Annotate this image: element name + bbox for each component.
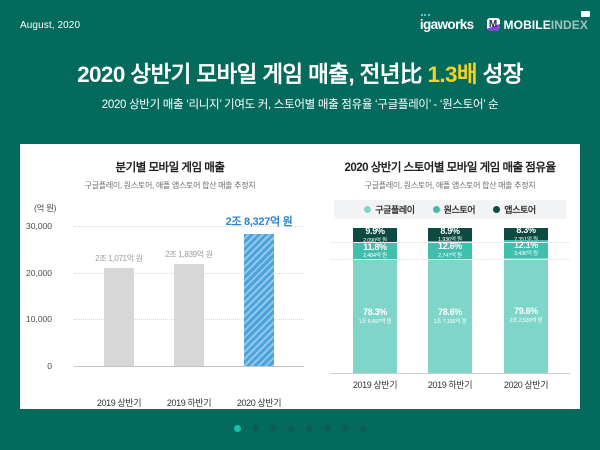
legend-label: 구글플레이: [375, 203, 414, 216]
legend-swatch-icon: [433, 206, 440, 213]
title-block: 2020 상반기 모바일 게임 매출, 전년比 1.3배 성장 2020 상반기…: [0, 62, 600, 112]
bar-value-label: 2조 1,071억 원: [95, 253, 143, 264]
stacked-bar: 8.3%2,351억 원12.1%3,436억 원79.6%2조 2,539억 …: [504, 228, 548, 373]
slide-root: { "header": { "date": "August, 2020", "l…: [0, 0, 600, 450]
gridline: [74, 366, 304, 367]
bar: 2조 1,071억 원: [104, 268, 134, 366]
x-axis-tick-label: 2020 상반기: [486, 378, 566, 391]
mobileindex-tag-icon: [581, 11, 590, 17]
title-highlight: 1.3배: [427, 62, 477, 87]
left-chart-plot-area: 010,00020,00030,0002조 1,071억 원2019 상반기2조…: [74, 226, 304, 366]
page-title: 2020 상반기 모바일 게임 매출, 전년比 1.3배 성장: [0, 62, 600, 89]
segment-separator-line: [330, 259, 570, 260]
x-axis-tick-label: 2019 상반기: [79, 396, 159, 409]
legend-item[interactable]: 앱스토어: [493, 203, 536, 216]
x-axis-tick-label: 2019 상반기: [335, 378, 415, 391]
pagination-dot[interactable]: [324, 425, 331, 432]
mobileindex-badge-icon: M: [487, 18, 500, 31]
stacked-bar-segment: 9.9%2,090억 원: [353, 228, 397, 242]
date-label: August, 2020: [20, 20, 80, 31]
igaworks-logo-text: igaworks: [420, 17, 474, 32]
x-axis-tick-label: 2019 하반기: [410, 378, 490, 391]
slide-pagination-dots[interactable]: [0, 425, 600, 432]
pagination-dot[interactable]: [288, 425, 295, 432]
left-chart: (억 원) 010,00020,00030,0002조 1,071억 원2019…: [20, 202, 320, 402]
mobileindex-mobile-text: MOBILE: [504, 18, 551, 32]
card-edge-right: [580, 144, 584, 409]
y-axis-tick-label: 20,000: [0, 268, 52, 278]
legend-swatch-icon: [493, 206, 500, 213]
y-axis-tick-label: 10,000: [0, 314, 52, 324]
legend-label: 원스토어: [444, 203, 476, 216]
page-subtitle: 2020 상반기 매출 ‘리니지’ 기여도 커, 스토어별 매출 점유율 ‘구글…: [0, 96, 600, 112]
right-chart-subtitle: 구글플레이, 원스토어, 애플 앱스토어 합산 매출 추정치: [320, 180, 580, 191]
logo-group: igaworks M MOBILEINDEX: [420, 18, 588, 32]
mobileindex-index-text: INDEX: [551, 18, 588, 32]
igaworks-dots-icon: [421, 14, 430, 16]
segment-amount-label: 2조 2,539억 원: [510, 318, 543, 324]
stacked-bar: 9.9%2,090억 원11.8%2,484억 원78.3%1조 6,497억 …: [353, 228, 397, 373]
pagination-dot[interactable]: [306, 425, 313, 432]
pagination-dot[interactable]: [342, 425, 349, 432]
segment-percent-label: 79.6%: [514, 306, 538, 316]
igaworks-logo: igaworks: [420, 18, 474, 32]
stacked-bar-segment: 8.3%2,351억 원: [504, 228, 548, 240]
legend-swatch-icon: [364, 206, 371, 213]
stacked-bar-segment: 78.6%1조 7,156억 원: [428, 259, 472, 373]
right-chart-panel: 2020 상반기 스토어별 모바일 게임 매출 점유율 구글플레이, 원스토어,…: [320, 144, 580, 409]
pagination-dot[interactable]: [270, 425, 277, 432]
bar: 2조 1,839억 원: [174, 264, 204, 366]
mobileindex-logo-text: MOBILEINDEX: [504, 19, 588, 31]
pagination-dot[interactable]: [252, 425, 259, 432]
chart-legend: 구글플레이원스토어앱스토어: [334, 200, 566, 219]
pagination-dot[interactable]: [360, 425, 367, 432]
left-chart-subtitle: 구글플레이, 원스토어, 애플 앱스토어 합산 매출 추정치: [20, 180, 320, 191]
x-axis-line: [330, 373, 570, 374]
pagination-dot[interactable]: [234, 425, 241, 432]
segment-amount-label: 1조 7,156억 원: [434, 319, 467, 325]
stacked-bar-segment: 11.8%2,484억 원: [353, 242, 397, 259]
left-chart-panel: 분기별 모바일 게임 매출 구글플레이, 원스토어, 애플 앱스토어 합산 매출…: [20, 144, 320, 409]
right-chart-title: 2020 상반기 스토어별 모바일 게임 매출 점유율: [320, 159, 580, 175]
legend-item[interactable]: 구글플레이: [364, 203, 414, 216]
y-axis-unit-label: (억 원): [34, 202, 56, 214]
bar-value-label: 2조 1,839억 원: [165, 249, 213, 260]
stacked-bar-segment: 79.6%2조 2,539억 원: [504, 258, 548, 373]
y-axis-tick-label: 0: [0, 361, 52, 371]
title-main-after: 성장: [477, 62, 523, 87]
segment-separator-line: [330, 242, 570, 243]
mobileindex-logo: M MOBILEINDEX: [487, 18, 588, 31]
segment-percent-label: 8.3%: [516, 225, 535, 235]
legend-label: 앱스토어: [504, 203, 536, 216]
y-axis-tick-label: 30,000: [0, 221, 52, 231]
right-chart-plot-area: 9.9%2,090억 원11.8%2,484억 원78.3%1조 6,497억 …: [330, 228, 570, 374]
bar-value-label: 2조 8,327억 원: [226, 213, 293, 229]
stacked-bar-segment: 78.3%1조 6,497억 원: [353, 259, 397, 373]
title-main-before: 2020 상반기 모바일 게임 매출, 전년比: [77, 62, 427, 87]
stacked-bar-segment: 12.6%2,747억 원: [428, 241, 472, 259]
segment-percent-label: 9.9%: [365, 226, 384, 236]
x-axis-tick-label: 2019 하반기: [149, 396, 229, 409]
segment-percent-label: 78.3%: [363, 307, 387, 317]
segment-percent-label: 11.8%: [363, 242, 387, 252]
segment-percent-label: 8.9%: [440, 226, 459, 236]
content-card: 분기별 모바일 게임 매출 구글플레이, 원스토어, 애플 앱스토어 합산 매출…: [16, 144, 584, 409]
segment-amount-label: 2,747억 원: [438, 253, 462, 259]
legend-item[interactable]: 원스토어: [433, 203, 476, 216]
bar: 2조 8,327억 원: [244, 234, 274, 366]
stacked-bar: 8.9%1,936억 원12.6%2,747억 원78.6%1조 7,156억 …: [428, 228, 472, 373]
stacked-bar-segment: 8.9%1,936억 원: [428, 228, 472, 241]
left-chart-title: 분기별 모바일 게임 매출: [20, 159, 320, 175]
slide-header: August, 2020 igaworks M MOBILEINDEX: [0, 0, 600, 50]
segment-amount-label: 1조 6,497억 원: [359, 319, 392, 325]
x-axis-tick-label: 2020 상반기: [219, 396, 299, 409]
segment-percent-label: 78.6%: [438, 307, 462, 317]
